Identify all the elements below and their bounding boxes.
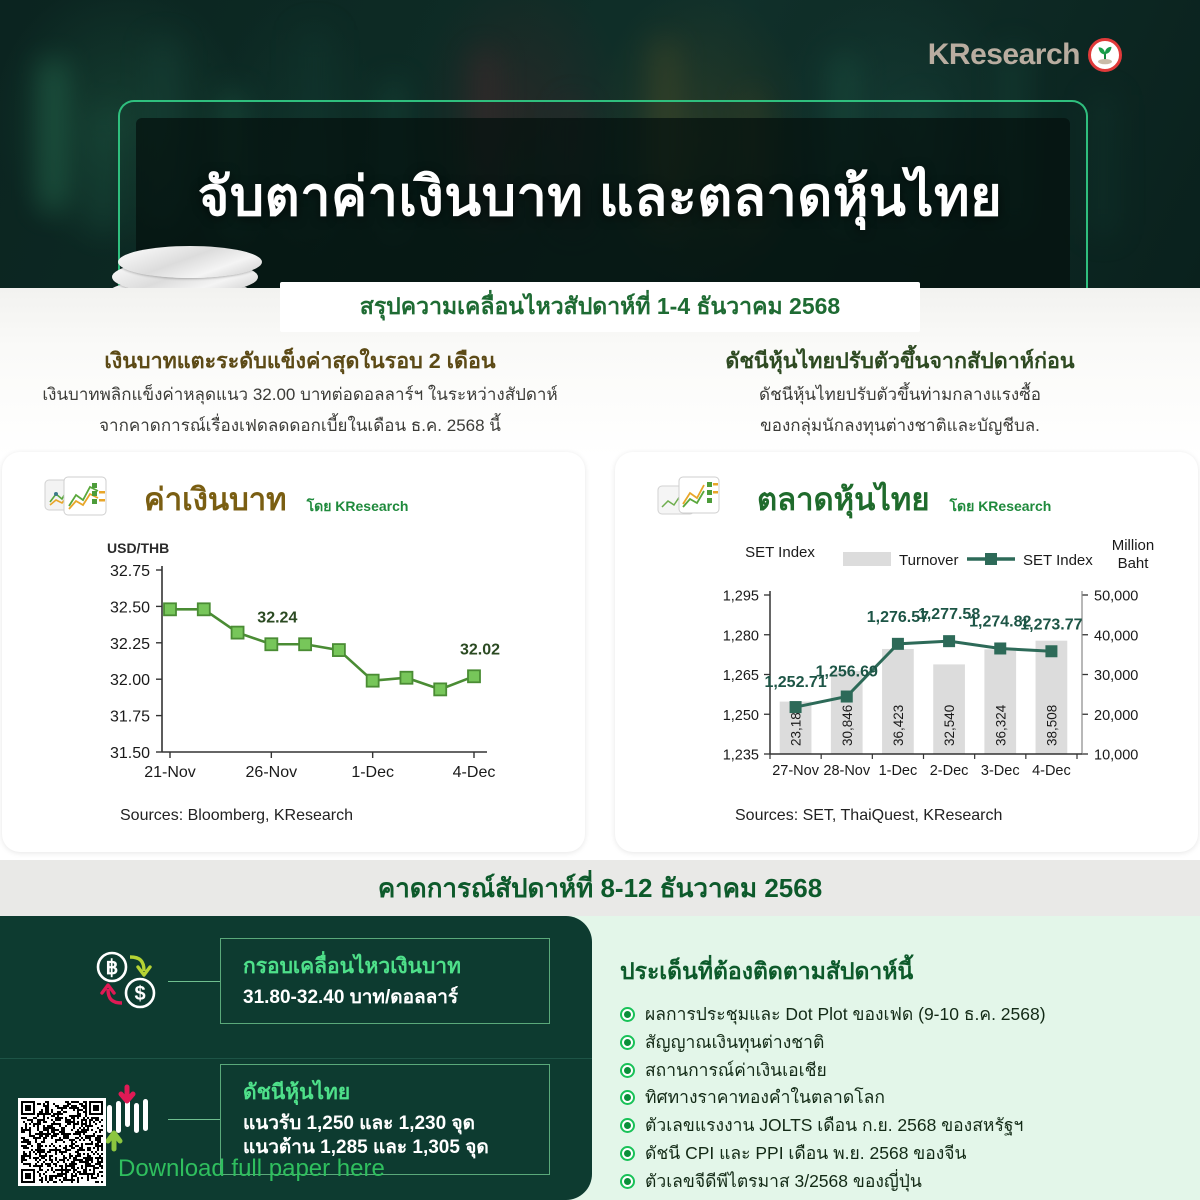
x-tick-label: 27-Nov <box>772 763 819 779</box>
right-y-tick-label: 50,000 <box>1094 589 1138 605</box>
watch-list-item-label: สัญญาณเงินทุนต่างชาติ <box>645 1031 824 1054</box>
set-index-marker <box>1045 645 1057 657</box>
forecast-box-currency: กรอบเคลื่อนไหวเงินบาท 31.80-32.40 บาท/ดอ… <box>220 938 550 1024</box>
left-y-tick-label: 1,265 <box>723 668 759 684</box>
svg-text:$: $ <box>134 983 145 1005</box>
forecast-item-currency: ฿ $ กรอบเคลื่อนไหวเงินบาท 31.80-32.40 บา… <box>88 938 550 1024</box>
y-tick-label: 32.75 <box>110 563 150 580</box>
y-tick-label: 31.50 <box>110 745 150 762</box>
watch-list-item-label: ผลการประชุมและ Dot Plot ของเฟด (9-10 ธ.ค… <box>645 1003 1046 1026</box>
forecast-connector-2 <box>168 1119 220 1120</box>
turnover-bar-label: 38,508 <box>1044 705 1059 746</box>
watch-list-item: ตัวเลขแรงงาน JOLTS เดือน ก.ย. 2568 ของสห… <box>620 1114 1200 1137</box>
headline-right: ดัชนีหุ้นไทยปรับตัวขึ้นจากสัปดาห์ก่อน ดั… <box>600 348 1200 438</box>
kresearch-plant-logo-icon <box>1088 38 1122 72</box>
hero-banner: KResearch จับตาค่าเงินบาท และตลาดหุ้นไทย <box>0 0 1200 288</box>
bullet-icon <box>620 1035 635 1050</box>
watch-list-item: ดัชนี CPI และ PPI เดือน พ.ย. 2568 ของจีน <box>620 1142 1200 1165</box>
watch-panel: ประเด็นที่ต้องติดตามสัปดาห์นี้ ผลการประช… <box>592 916 1200 1200</box>
forecast-divider <box>0 1058 592 1059</box>
chart-cards: ค่าเงินบาท โดย KResearch USD/THB 31.5031… <box>0 452 1200 860</box>
turnover-bar-label: 36,423 <box>891 705 906 746</box>
page-title: จับตาค่าเงินบาท และตลาดหุ้นไทย <box>0 168 1200 227</box>
thb-line-chart: 31.5031.7532.0032.2532.5032.7521-Nov26-N… <box>2 452 585 852</box>
watch-list-item: ตัวเลขจีดีพีไตรมาส 3/2568 ของญี่ปุ่น <box>620 1170 1200 1193</box>
turnover-bar-label: 32,540 <box>942 705 957 746</box>
set-index-data-label: 1,273.77 <box>1020 616 1082 633</box>
set-index-data-label: 1,256.69 <box>816 664 878 681</box>
watch-list: ผลการประชุมและ Dot Plot ของเฟด (9-10 ธ.ค… <box>620 1003 1200 1192</box>
legend-label-set-index: SET Index <box>1023 552 1093 569</box>
qr-code-icon[interactable] <box>18 1098 106 1186</box>
bullet-icon <box>620 1118 635 1133</box>
left-chart-source: Sources: Bloomberg, KResearch <box>120 807 353 825</box>
forecast-set-support: แนวรับ 1,250 และ 1,230 จุด <box>243 1112 533 1136</box>
headline-right-line2: ของกลุ่มนักลงทุนต่างชาติและบัญชีบล. <box>600 414 1200 438</box>
x-tick-label: 26-Nov <box>246 764 298 781</box>
headline-left-title: เงินบาทแตะระดับแข็งค่าสุดในรอบ 2 เดือน <box>0 348 600 376</box>
x-tick-label: 3-Dec <box>981 763 1020 779</box>
turnover-bar-label: 30,846 <box>840 705 855 746</box>
right-axis-label-line2: Baht <box>1118 555 1150 572</box>
right-y-tick-label: 40,000 <box>1094 628 1138 644</box>
y-tick-label: 32.50 <box>110 599 150 616</box>
coins-decoration <box>90 250 280 288</box>
forecast-banner-text: คาดการณ์สัปดาห์ที่ 8-12 ธันวาคม 2568 <box>378 868 822 909</box>
watch-list-item-label: ตัวเลขจีดีพีไตรมาส 3/2568 ของญี่ปุ่น <box>645 1170 922 1193</box>
data-label: 32.24 <box>257 609 297 626</box>
x-tick-label: 21-Nov <box>144 764 196 781</box>
set-index-marker <box>943 635 955 647</box>
right-axis-label-line1: Million <box>1112 537 1155 554</box>
x-tick-label: 1-Dec <box>351 764 394 781</box>
x-tick-label: 1-Dec <box>879 763 918 779</box>
left-y-tick-label: 1,280 <box>723 628 759 644</box>
watch-list-item: ทิศทางราคาทองคำในตลาดโลก <box>620 1086 1200 1109</box>
left-y-tick-label: 1,295 <box>723 589 759 605</box>
bullet-icon <box>620 1174 635 1189</box>
right-y-tick-label: 30,000 <box>1094 668 1138 684</box>
x-tick-label: 2-Dec <box>930 763 969 779</box>
y-tick-label: 32.00 <box>110 672 150 689</box>
watch-list-item-label: ดัชนี CPI และ PPI เดือน พ.ย. 2568 ของจีน <box>645 1142 967 1165</box>
set-index-marker <box>892 638 904 650</box>
set-index-turnover-chart: SET IndexMillionBahtTurnoverSET Index1,2… <box>615 452 1198 852</box>
set-index-marker <box>841 691 853 703</box>
forecast-currency-range: 31.80-32.40 บาท/ดอลลาร์ <box>243 986 533 1010</box>
currency-exchange-icon: ฿ $ <box>88 941 168 1021</box>
bullet-icon <box>620 1090 635 1105</box>
watch-list-item: สัญญาณเงินทุนต่างชาติ <box>620 1031 1200 1054</box>
headline-left-line1: เงินบาทพลิกแข็งค่าหลุดแนว 32.00 บาทต่อดอ… <box>0 383 600 407</box>
forecast-currency-title: กรอบเคลื่อนไหวเงินบาท <box>243 950 533 983</box>
legend-label-turnover: Turnover <box>899 552 958 569</box>
download-link[interactable]: Download full paper here <box>118 1155 385 1183</box>
watch-list-item: สถานการณ์ค่าเงินเอเชีย <box>620 1059 1200 1082</box>
logo-text: KResearch <box>928 38 1080 72</box>
forecast-banner: คาดการณ์สัปดาห์ที่ 8-12 ธันวาคม 2568 <box>0 860 1200 916</box>
watch-list-item-label: ตัวเลขแรงงาน JOLTS เดือน ก.ย. 2568 ของสห… <box>645 1114 1023 1137</box>
hero-subtitle: สรุปความเคลื่อนไหวสัปดาห์ที่ 1-4 ธันวาคม… <box>360 289 840 325</box>
right-y-tick-label: 20,000 <box>1094 708 1138 724</box>
set-index-marker <box>790 701 802 713</box>
watch-list-item-label: ทิศทางราคาทองคำในตลาดโลก <box>645 1086 885 1109</box>
turnover-bar-label: 36,324 <box>993 704 1008 746</box>
y-tick-label: 32.25 <box>110 636 150 653</box>
data-label: 32.02 <box>460 641 500 658</box>
bullet-icon <box>620 1063 635 1078</box>
legend-swatch-turnover <box>843 552 891 566</box>
left-y-tick-label: 1,235 <box>723 748 759 764</box>
set-index-marker <box>994 642 1006 654</box>
kresearch-logo: KResearch <box>928 38 1122 72</box>
left-axis-label: SET Index <box>745 544 815 561</box>
x-tick-label: 4-Dec <box>453 764 496 781</box>
headline-right-title: ดัชนีหุ้นไทยปรับตัวขึ้นจากสัปดาห์ก่อน <box>600 348 1200 376</box>
x-tick-label: 4-Dec <box>1032 763 1071 779</box>
watch-list-item: ผลการประชุมและ Dot Plot ของเฟด (9-10 ธ.ค… <box>620 1003 1200 1026</box>
card-thb-exchange-rate: ค่าเงินบาท โดย KResearch USD/THB 31.5031… <box>2 452 585 852</box>
watch-title: ประเด็นที่ต้องติดตามสัปดาห์นี้ <box>620 954 1200 990</box>
y-tick-label: 31.75 <box>110 709 150 726</box>
svg-text:฿: ฿ <box>106 957 119 979</box>
right-y-tick-label: 10,000 <box>1094 748 1138 764</box>
x-tick-label: 28-Nov <box>823 763 870 779</box>
headline-left: เงินบาทแตะระดับแข็งค่าสุดในรอบ 2 เดือน เ… <box>0 348 600 438</box>
card-thai-stock-market: ตลาดหุ้นไทย โดย KResearch SET IndexMilli… <box>615 452 1198 852</box>
forecast-set-title: ดัชนีหุ้นไทย <box>243 1076 533 1109</box>
left-y-tick-label: 1,250 <box>723 708 759 724</box>
watch-list-item-label: สถานการณ์ค่าเงินเอเชีย <box>645 1059 827 1082</box>
forecast-connector-1 <box>168 981 220 982</box>
headline-right-line1: ดัชนีหุ้นไทยปรับตัวขึ้นท่ามกลางแรงซื้อ <box>600 383 1200 407</box>
hero-subtitle-pill: สรุปความเคลื่อนไหวสัปดาห์ที่ 1-4 ธันวาคม… <box>280 282 920 332</box>
bullet-icon <box>620 1146 635 1161</box>
bullet-icon <box>620 1007 635 1022</box>
right-chart-source: Sources: SET, ThaiQuest, KResearch <box>735 807 1002 825</box>
headline-left-line2: จากคาดการณ์เรื่องเฟดลดดอกเบี้ยในเดือน ธ.… <box>0 414 600 438</box>
